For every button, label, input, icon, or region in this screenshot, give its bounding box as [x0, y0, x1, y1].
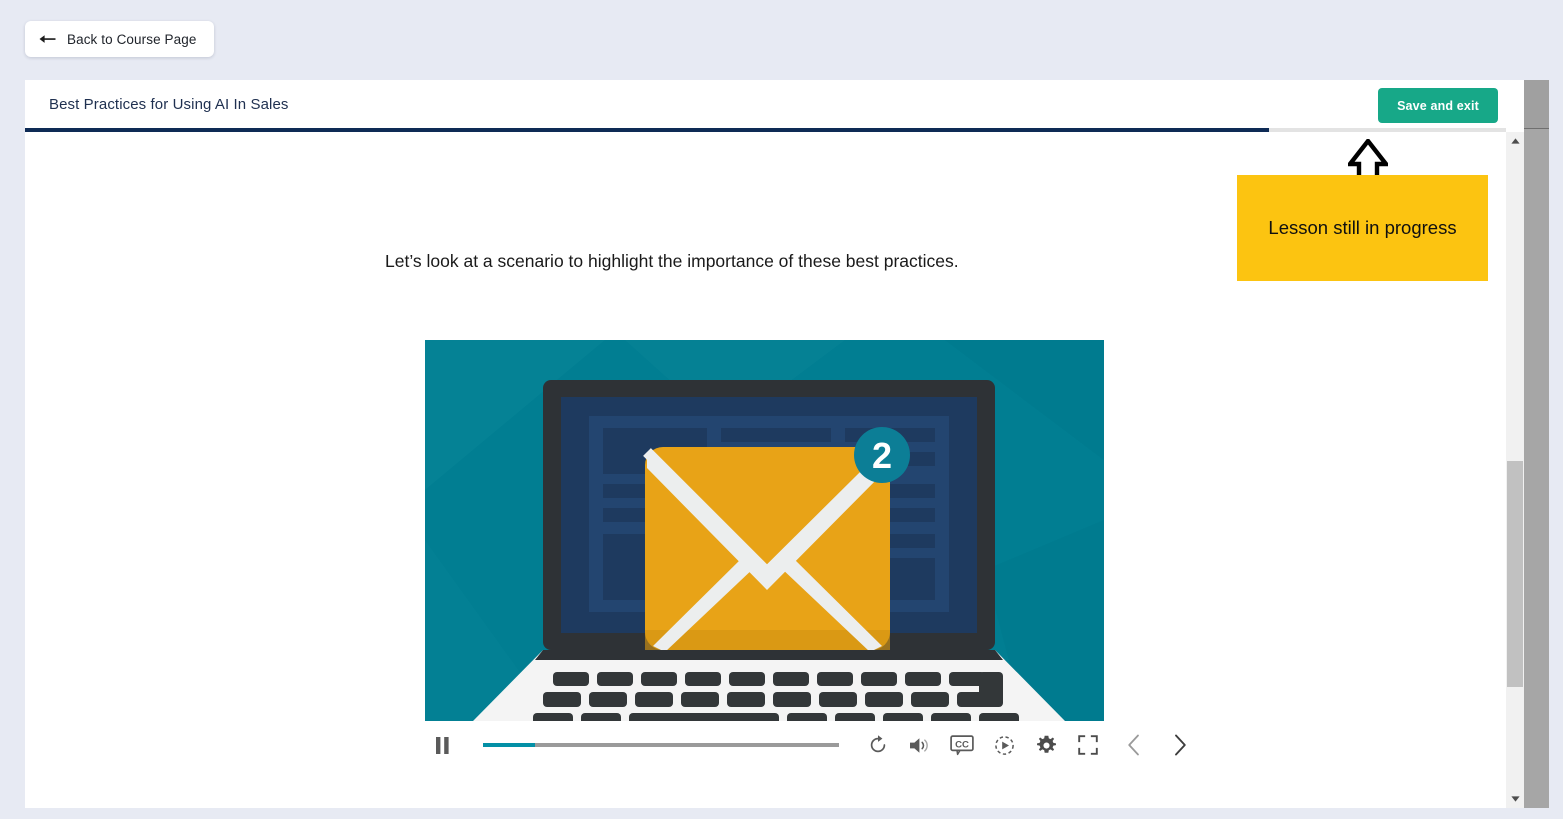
replay-button[interactable]	[863, 730, 893, 760]
volume-icon	[909, 736, 931, 755]
caret-up-icon	[1511, 138, 1520, 144]
save-and-exit-button[interactable]: Save and exit	[1378, 88, 1498, 123]
annotation-callout: Lesson still in progress	[1237, 175, 1488, 281]
annotation-text: Lesson still in progress	[1268, 215, 1456, 242]
seek-track	[483, 743, 839, 747]
closed-captions-icon: CC	[950, 734, 974, 756]
page-title: Best Practices for Using AI In Sales	[49, 96, 289, 113]
fullscreen-button[interactable]	[1073, 730, 1103, 760]
lesson-header: Best Practices for Using AI In Sales Sav…	[25, 80, 1524, 132]
fullscreen-icon	[1078, 735, 1098, 755]
seek-bar[interactable]	[483, 733, 839, 757]
volume-button[interactable]	[905, 730, 935, 760]
browser-scrollbar-thumb[interactable]	[1524, 80, 1549, 129]
app-root: Back to Course Page Best Practices for U…	[0, 0, 1563, 819]
pause-icon	[435, 737, 450, 754]
svg-text:2: 2	[872, 435, 892, 476]
closed-captions-button[interactable]: CC	[947, 730, 977, 760]
pause-button[interactable]	[427, 730, 457, 760]
settings-button[interactable]	[1031, 730, 1061, 760]
back-to-course-page-button[interactable]: Back to Course Page	[25, 21, 214, 57]
playback-speed-button[interactable]	[989, 730, 1019, 760]
next-slide-button[interactable]	[1165, 730, 1195, 760]
seek-progress-fill	[483, 743, 535, 747]
playback-speed-icon	[994, 735, 1015, 756]
scroll-down-button[interactable]	[1506, 790, 1524, 808]
video-player: 2	[425, 340, 1104, 769]
replay-icon	[868, 735, 888, 755]
lesson-scrollbar[interactable]	[1506, 132, 1524, 808]
arrow-left-icon	[39, 33, 56, 45]
previous-slide-button[interactable]	[1119, 730, 1149, 760]
caret-down-icon	[1511, 796, 1520, 802]
laptop-email-notification-illustration: 2	[425, 340, 1104, 721]
chevron-left-icon	[1127, 734, 1141, 756]
scrollbar-thumb[interactable]	[1507, 461, 1523, 687]
video-controls: CC	[425, 721, 1104, 769]
gear-icon	[1036, 735, 1057, 756]
browser-scrollbar[interactable]	[1524, 80, 1549, 808]
back-to-course-page-label: Back to Course Page	[67, 32, 196, 47]
chevron-right-icon	[1173, 734, 1187, 756]
scroll-up-button[interactable]	[1506, 132, 1524, 150]
video-stage[interactable]: 2	[425, 340, 1104, 721]
lesson-body-text: Let’s look at a scenario to highlight th…	[385, 250, 1145, 273]
svg-text:CC: CC	[955, 739, 969, 750]
